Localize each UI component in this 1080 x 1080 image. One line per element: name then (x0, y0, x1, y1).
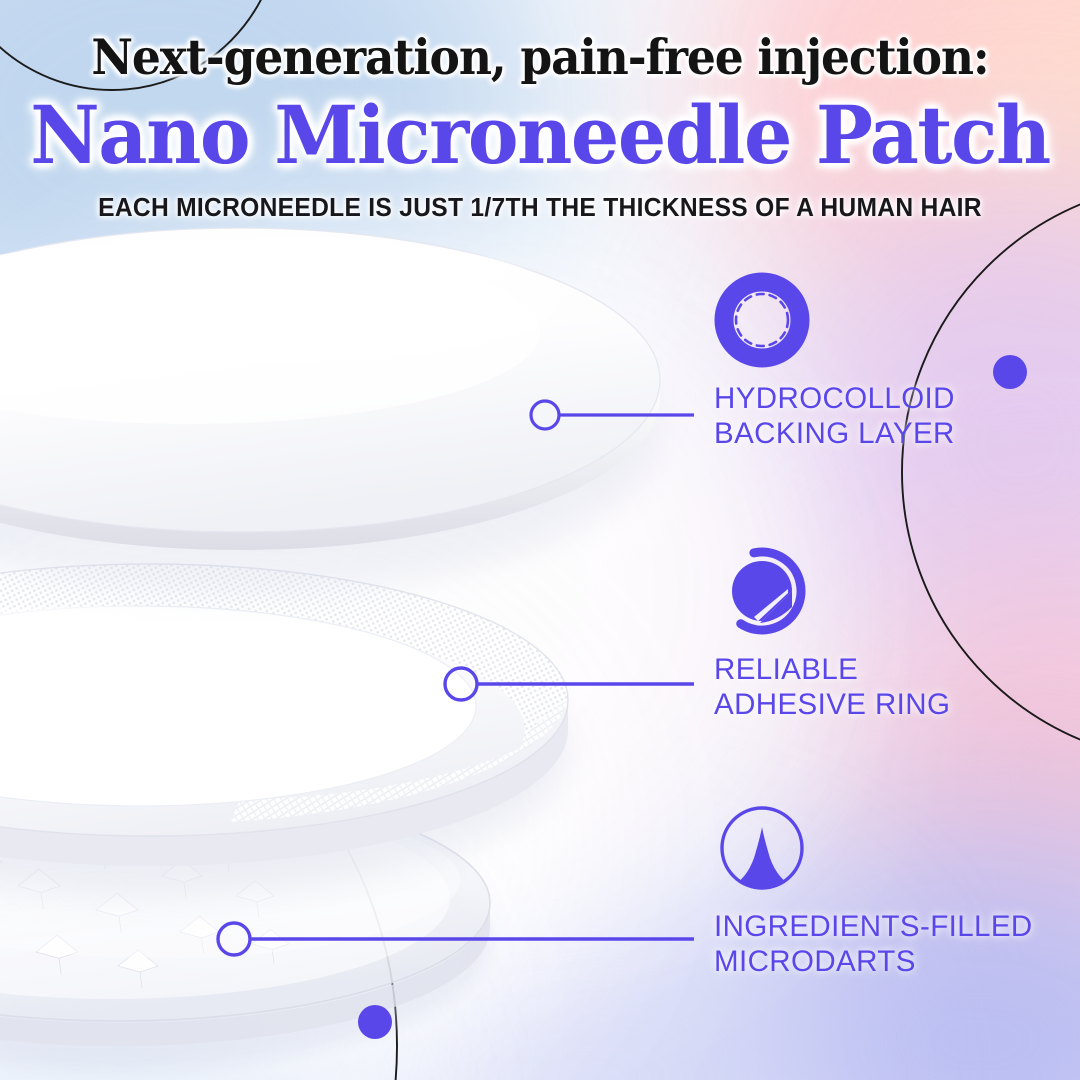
feature-label-microdarts: INGREDIENTS-FILLED MICRODARTS (714, 910, 1033, 980)
header-kicker: Next-generation, pain-free injection: (38, 33, 1042, 82)
feature-label-hydrocolloid: HYDROCOLLOID BACKING LAYER (714, 382, 955, 452)
feature-hydrocolloid-backing-layer: HYDROCOLLOID BACKING LAYER (714, 272, 955, 452)
header-tagline: EACH MICRONEEDLE IS JUST 1/7TH THE THICK… (19, 196, 1061, 222)
feature-ingredients-filled-microdarts: INGREDIENTS-FILLED MICRODARTS (714, 800, 1033, 980)
ring-dashed-circle-icon (714, 272, 810, 368)
feature-reliable-adhesive-ring: RELIABLE ADHESIVE RING (714, 543, 950, 723)
infographic-canvas: Next-generation, pain-free injection: Na… (0, 0, 1080, 1080)
adhesive-peel-ring-icon (714, 543, 810, 639)
microdart-peak-circle-icon (714, 800, 810, 896)
page-title: Nano Microneedle Patch (27, 95, 1053, 175)
feature-label-adhesive: RELIABLE ADHESIVE RING (714, 653, 950, 723)
header-block: Next-generation, pain-free injection: Na… (0, 0, 1080, 222)
